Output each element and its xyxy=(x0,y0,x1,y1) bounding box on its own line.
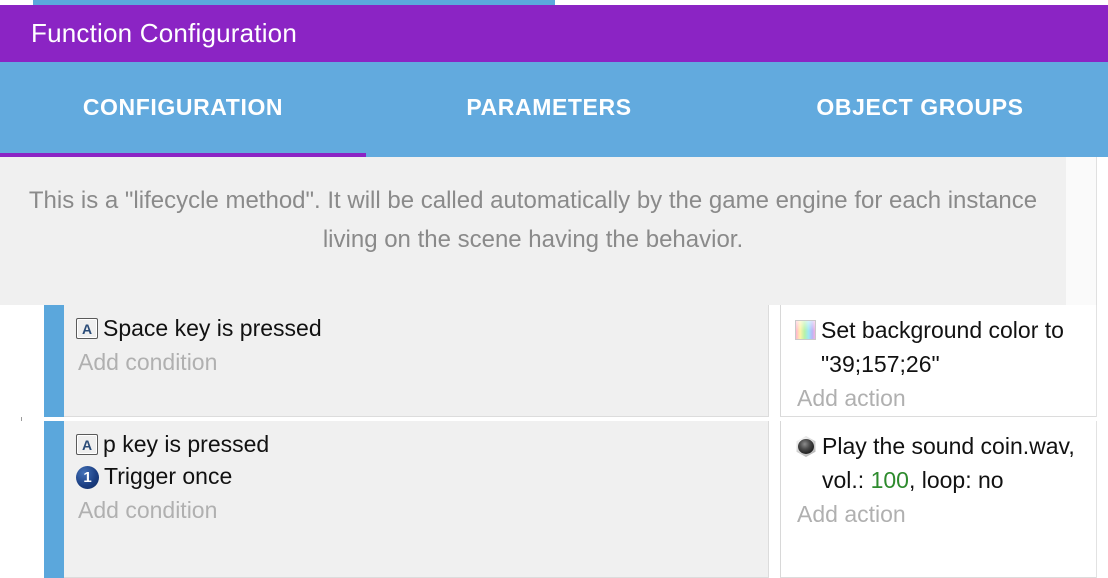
description-right-strip xyxy=(1066,157,1096,305)
sound-icon-cone xyxy=(798,439,814,454)
tab-configuration[interactable]: CONFIGURATION xyxy=(0,62,366,153)
condition-label: key is pressed xyxy=(122,431,269,457)
keyboard-key-icon-glyph: A xyxy=(82,322,92,336)
lifecycle-description-panel: This is a "lifecycle method". It will be… xyxy=(0,157,1066,305)
action-value[interactable]: "39;157;26" xyxy=(821,351,940,377)
action-text: Set background color to "39;157;26" xyxy=(821,313,1098,381)
event-conditions-cell[interactable]: A p key is pressed 1 Trigger once Add co… xyxy=(64,421,768,578)
event-conditions-cell[interactable]: A Space key is pressed Add condition xyxy=(64,305,768,417)
dialog-title: Function Configuration xyxy=(0,18,297,49)
condition-text: p key is pressed xyxy=(103,429,269,460)
events-scroll-strip[interactable] xyxy=(1096,305,1108,417)
conditions-actions-separator xyxy=(768,305,780,417)
color-swatch-icon xyxy=(795,320,816,340)
action-label: Set background color to xyxy=(821,317,1064,343)
action-item[interactable]: Play the sound coin.wav, vol.: 100, loop… xyxy=(795,429,1098,497)
keyboard-key-icon: A xyxy=(76,318,98,339)
event-actions-cell[interactable]: Set background color to "39;157;26" Add … xyxy=(780,305,1108,417)
condition-item[interactable]: A p key is pressed xyxy=(76,429,768,460)
sound-icon xyxy=(795,436,817,457)
add-action-button[interactable]: Add action xyxy=(795,381,1098,415)
conditions-actions-separator xyxy=(768,421,780,578)
trigger-once-icon: 1 xyxy=(76,466,99,489)
event-selection-bar[interactable] xyxy=(44,421,64,578)
tab-list: CONFIGURATION PARAMETERS OBJECT GROUPS xyxy=(0,62,1108,153)
action-value[interactable]: 100 xyxy=(871,467,909,493)
condition-item[interactable]: A Space key is pressed xyxy=(76,313,768,344)
add-condition-button[interactable]: Add condition xyxy=(76,493,768,527)
keyboard-key-icon-glyph: A xyxy=(82,438,92,452)
tab-parameters-label: PARAMETERS xyxy=(466,94,631,121)
tab-object-groups[interactable]: OBJECT GROUPS xyxy=(732,62,1108,153)
dialog-title-bar: Function Configuration xyxy=(0,5,1108,62)
event-selection-bar[interactable] xyxy=(44,305,64,417)
event-row[interactable]: A p key is pressed 1 Trigger once Add co… xyxy=(0,421,1108,578)
tab-parameters[interactable]: PARAMETERS xyxy=(366,62,732,153)
description-scroll-strip xyxy=(1096,157,1108,305)
event-actions-cell[interactable]: Play the sound coin.wav, vol.: 100, loop… xyxy=(780,421,1108,578)
event-gutter xyxy=(0,421,44,578)
condition-text: Trigger once xyxy=(104,461,232,492)
tab-configuration-label: CONFIGURATION xyxy=(83,94,283,121)
add-action-button[interactable]: Add action xyxy=(795,497,1098,531)
keyboard-key-icon: A xyxy=(76,434,98,455)
action-label-suffix: , loop: no xyxy=(909,467,1004,493)
condition-label: key is pressed xyxy=(175,315,322,341)
add-condition-button[interactable]: Add condition xyxy=(76,345,768,379)
trigger-once-icon-glyph: 1 xyxy=(83,470,91,485)
action-text: Play the sound coin.wav, vol.: 100, loop… xyxy=(822,429,1098,497)
function-configuration-dialog: Function Configuration CONFIGURATION PAR… xyxy=(0,0,1108,578)
action-item[interactable]: Set background color to "39;157;26" xyxy=(795,313,1098,381)
tab-object-groups-label: OBJECT GROUPS xyxy=(816,94,1023,121)
event-gutter xyxy=(0,305,44,417)
events-sheet: A Space key is pressed Add condition Set… xyxy=(0,305,1108,578)
condition-parameter[interactable]: Space xyxy=(103,315,168,341)
event-row[interactable]: A Space key is pressed Add condition Set… xyxy=(0,305,1108,417)
tab-bar: CONFIGURATION PARAMETERS OBJECT GROUPS xyxy=(0,62,1108,157)
condition-item[interactable]: 1 Trigger once xyxy=(76,461,768,492)
condition-parameter[interactable]: p xyxy=(103,431,116,457)
condition-text: Space key is pressed xyxy=(103,313,322,344)
lifecycle-description-text: This is a "lifecycle method". It will be… xyxy=(28,181,1038,259)
events-scroll-strip[interactable] xyxy=(1096,421,1108,578)
